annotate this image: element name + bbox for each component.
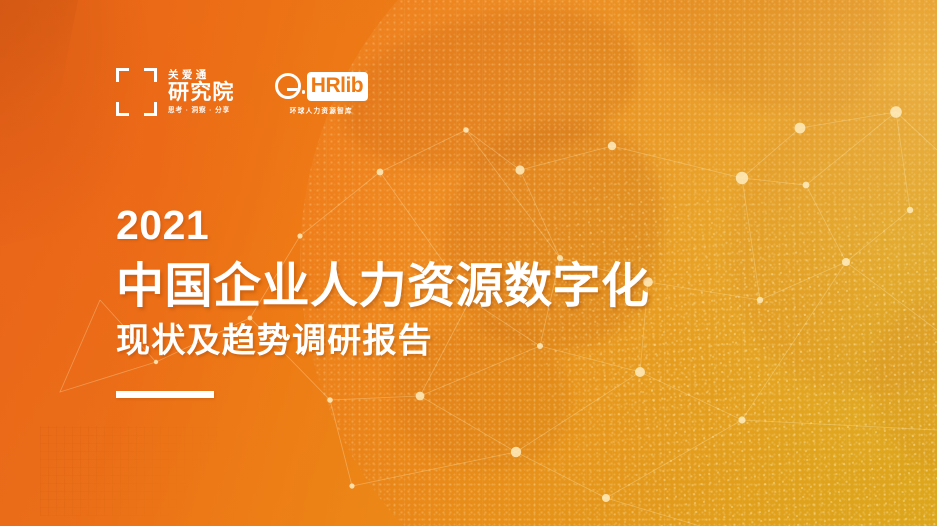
page-title: 中国企业人力资源数字化 [116, 260, 650, 314]
page-subtitle: 现状及趋势调研报告 [116, 321, 650, 361]
report-cover-slide: 关爱通 研究院 思考 · 洞察 · 分享 HR lib 环球人力资源智库 [0, 0, 937, 526]
logo-ghrlib-hr: HR [311, 75, 340, 97]
cover-title-block: 2021 中国企业人力资源数字化 现状及趋势调研报告 [116, 205, 650, 398]
title-divider-rule [116, 391, 214, 398]
logo-ghrlib-tagline: 环球人力资源智库 [290, 105, 353, 115]
ghrlib-dot-icon [302, 90, 305, 93]
logo-aigt-research-institute: 关爱通 研究院 思考 · 洞察 · 分享 [116, 68, 235, 116]
logo-aigt-top-line: 关爱通 [168, 69, 235, 81]
bracket-frame-icon [116, 68, 157, 116]
logo-aigt-tagline: 思考 · 洞察 · 分享 [168, 107, 235, 115]
logo-ghrlib-wordmark: HR lib [307, 72, 368, 101]
cover-year: 2021 [116, 205, 650, 246]
logo-row: 关爱通 研究院 思考 · 洞察 · 分享 HR lib 环球人力资源智库 [116, 68, 368, 116]
logo-ghrlib-lib: lib [340, 75, 363, 97]
logo-ghrlib: HR lib 环球人力资源智库 [275, 71, 369, 116]
logo-ghrlib-mark: HR lib [275, 71, 369, 101]
logo-aigt-main-line: 研究院 [168, 82, 235, 104]
ghrlib-g-icon [275, 73, 301, 99]
